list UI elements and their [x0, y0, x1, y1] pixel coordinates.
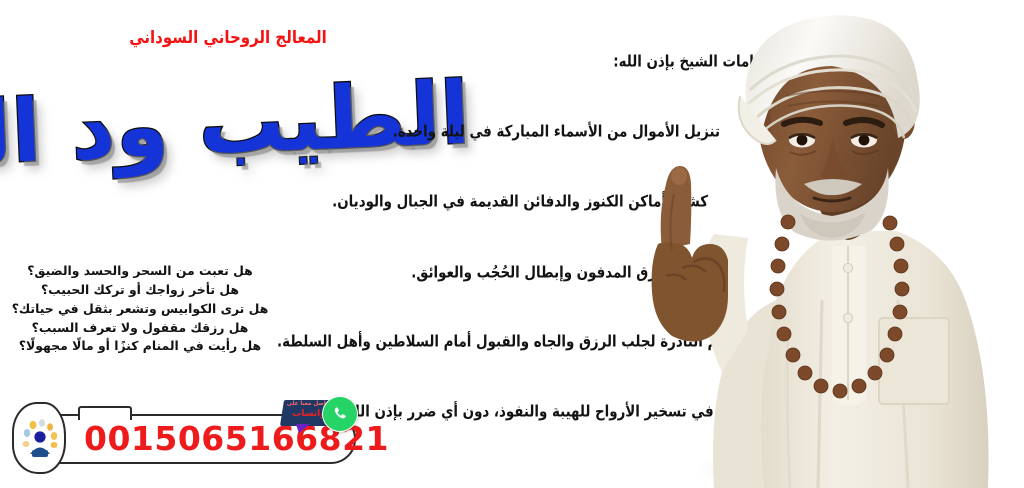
tagline-text: المعالج الروحاني السوداني: [128, 27, 328, 48]
question-item: هل تأخر زواجك أو تركك الحبيب؟: [4, 281, 276, 300]
whatsapp-icon[interactable]: [322, 396, 358, 432]
question-item: هل ترى الكوابيس وتشعر بثقل في حياتك؟: [4, 300, 276, 319]
emblem-logo-icon: [20, 416, 60, 460]
sheikh-portrait: [636, 0, 1024, 488]
promo-banner: المعالج الروحاني السوداني الطيب ود النور…: [0, 0, 1024, 488]
whatsapp-ribbon-tail: [296, 424, 310, 433]
whatsapp-badge[interactable]: تواصل معنا على واتساب: [282, 396, 362, 446]
question-item: هل تعبت من السحر والحسد والضيق؟: [4, 262, 276, 281]
question-item: هل رزقك مقفول ولا تعرف السبب؟: [4, 319, 276, 338]
questions-block: هل تعبت من السحر والحسد والضيق؟ هل تأخر …: [4, 262, 276, 356]
contact-plate-notch: [78, 406, 132, 420]
question-item: هل رأيت في المنام كنزًا أو مالًا مجهولًا…: [4, 337, 276, 356]
